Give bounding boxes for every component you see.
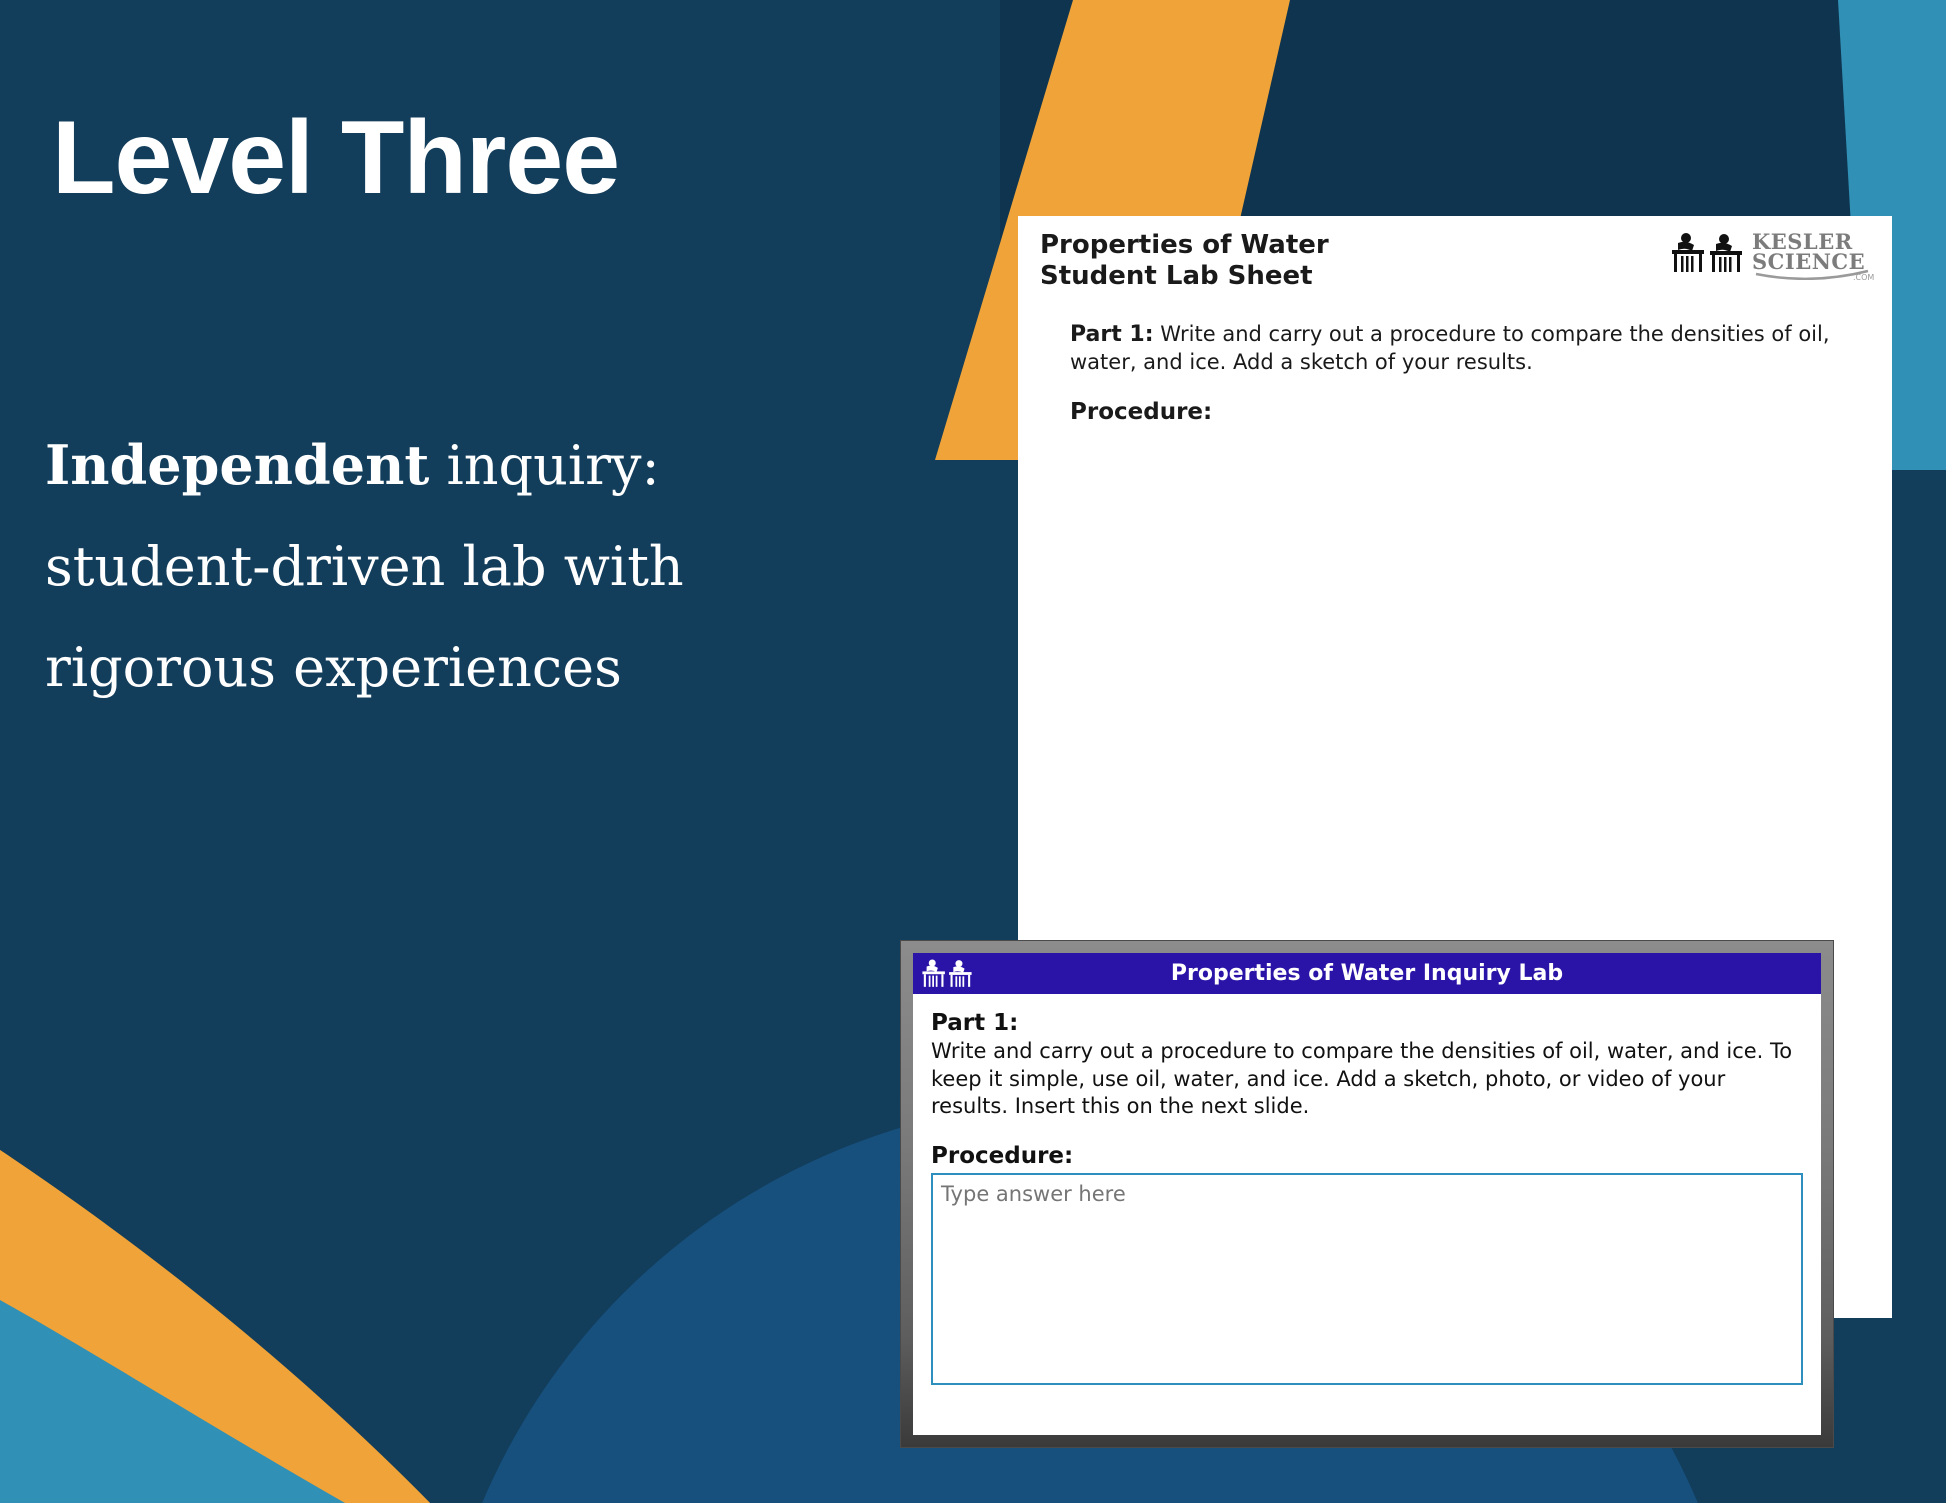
dialog-part-label: Part 1: [931,1010,1803,1036]
kesler-science-logo: KESLER SCIENCE .COM [1670,230,1874,280]
dialog-procedure-label: Procedure: [931,1143,1803,1169]
lab-sheet-body: Part 1: Write and carry out a procedure … [1070,320,1856,425]
kesler-word-suffix: .COM [1853,273,1874,280]
slide-canvas: Level Three Independent inquiry: student… [0,0,1946,1503]
body-copy-lead: Independent [45,433,429,497]
dialog-part-text: Write and carry out a procedure to compa… [931,1038,1803,1121]
kesler-word-line2: SCIENCE [1752,249,1865,274]
kesler-science-wordmark: KESLER SCIENCE .COM [1752,230,1874,280]
inquiry-lab-dialog[interactable]: Properties of Water Inquiry Lab Part 1: … [900,940,1834,1448]
slide-headline: Level Three [52,104,872,213]
lab-sheet-header: Properties of Water Student Lab Sheet [1040,230,1874,291]
lab-sheet-part-1: Part 1: Write and carry out a procedure … [1070,320,1856,377]
lab-sheet-part-label: Part 1: [1070,322,1154,347]
lab-sheet-part-text: Write and carry out a procedure to compa… [1070,322,1830,374]
dialog-content: Part 1: Write and carry out a procedure … [913,994,1821,1390]
kesler-students-desks-icon [921,957,973,990]
kesler-students-desks-icon [1670,230,1744,276]
slide-body-copy: Independent inquiry: student-driven lab … [45,415,825,718]
lab-sheet-procedure-label: Procedure: [1070,399,1856,425]
procedure-answer-input[interactable] [931,1173,1803,1385]
dialog-inner-panel: Properties of Water Inquiry Lab Part 1: … [913,953,1821,1435]
dialog-title-text: Properties of Water Inquiry Lab [1171,961,1563,986]
dialog-titlebar: Properties of Water Inquiry Lab [913,953,1821,994]
